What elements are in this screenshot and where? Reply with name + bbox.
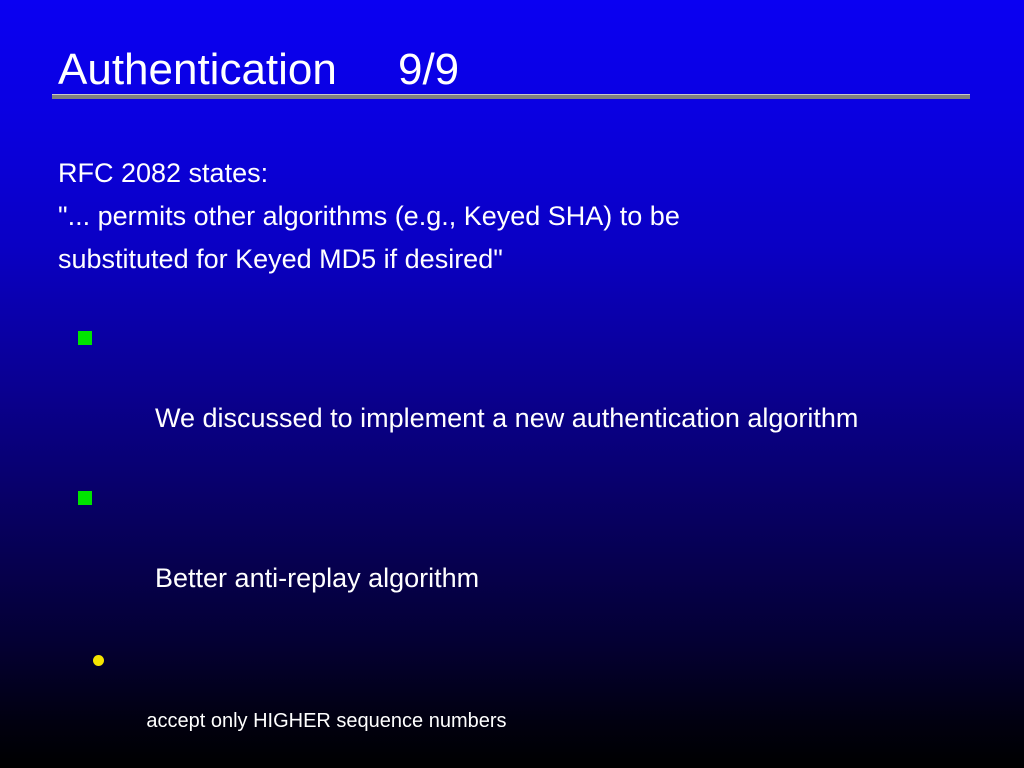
intro-line-3: substituted for Keyed MD5 if desired" (58, 238, 968, 281)
intro-paragraph: RFC 2082 states: "... permits other algo… (58, 152, 968, 281)
bullet-item-anti-replay: Better anti-replay algorithm (0, 478, 1024, 638)
round-bullet-icon (93, 655, 104, 666)
bullet-label: We discussed to implement a new authenti… (155, 403, 858, 433)
slide-title: Authentication 9/9 (58, 44, 459, 96)
intro-line-2: "... permits other algorithms (e.g., Key… (58, 195, 968, 238)
square-bullet-icon (78, 331, 92, 345)
bullet-label: Better anti-replay algorithm (155, 563, 479, 593)
sub-bullet-accept-higher: accept only HIGHER sequence numbers (0, 644, 1024, 768)
square-bullet-icon (78, 491, 92, 505)
bullet-item-discussed: We discussed to implement a new authenti… (0, 318, 1024, 478)
title-underline-rule (52, 94, 970, 99)
presentation-slide: Authentication 9/9 RFC 2082 states: "...… (0, 0, 1024, 768)
slide-outline: We discussed to implement a new authenti… (0, 318, 1024, 768)
intro-line-1: RFC 2082 states: (58, 152, 968, 195)
sub-bullet-label: accept only HIGHER sequence numbers (146, 710, 506, 732)
